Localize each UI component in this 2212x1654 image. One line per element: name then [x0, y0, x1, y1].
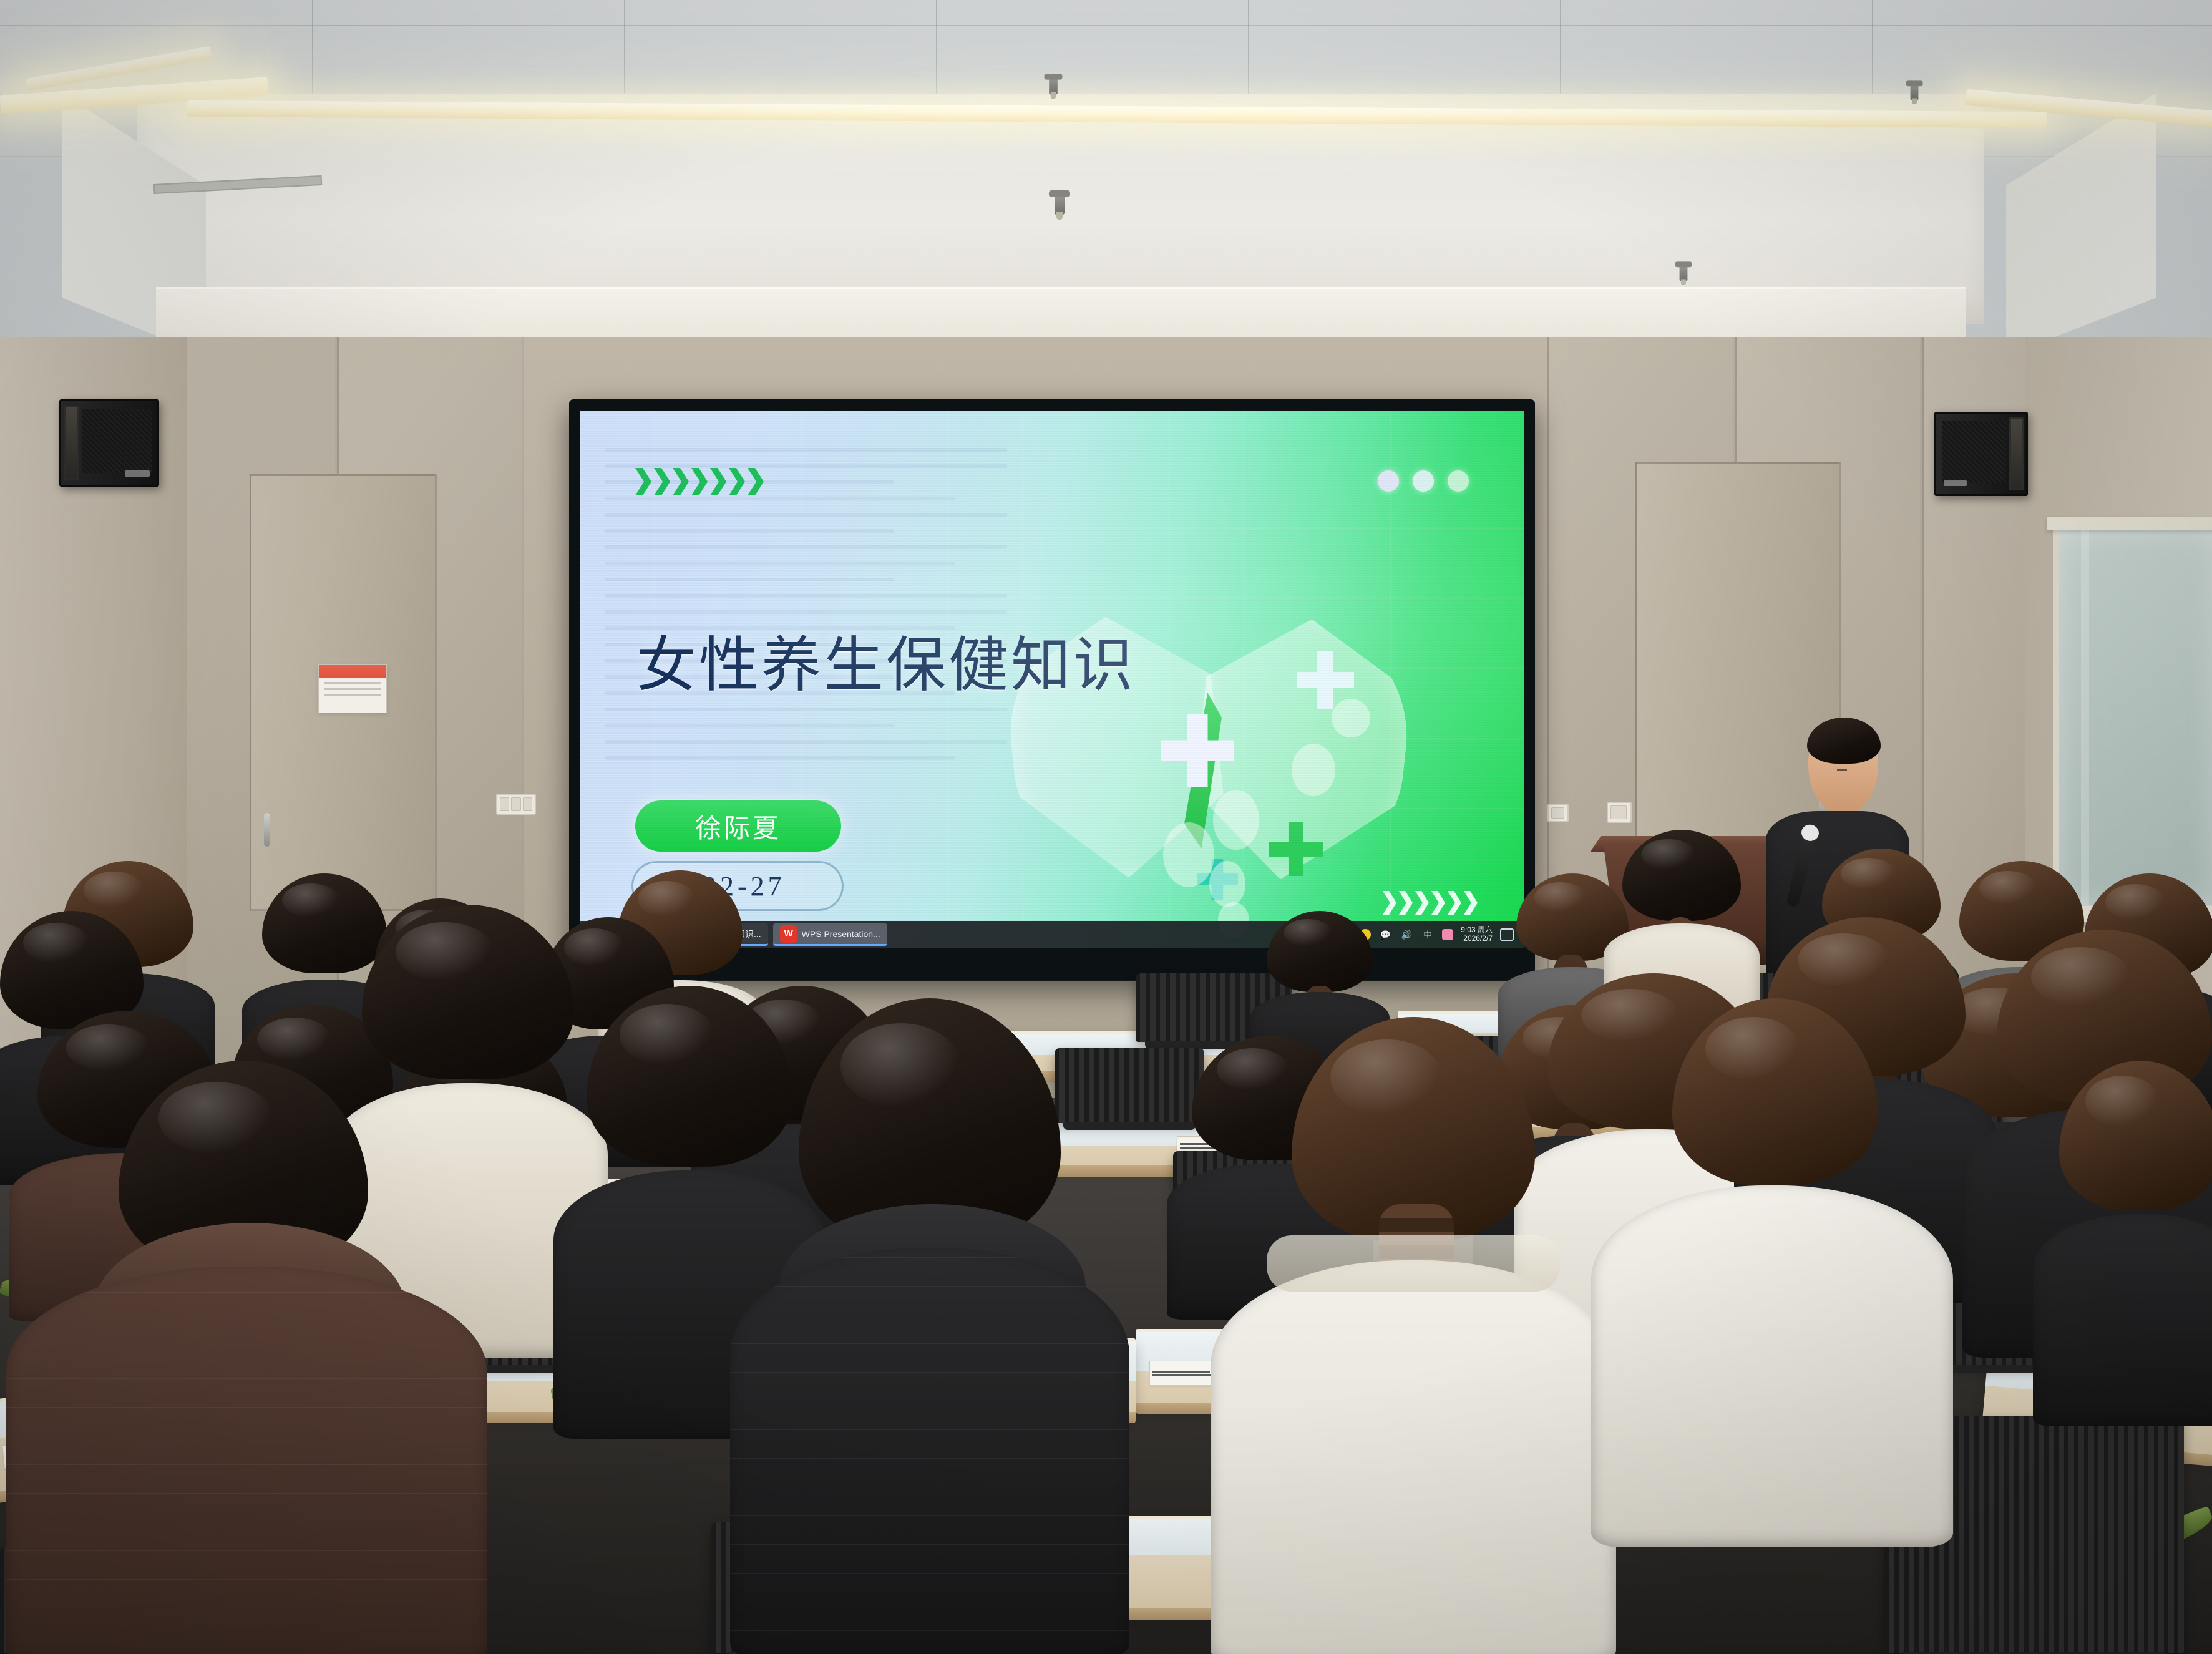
speaker-bracket	[2009, 417, 2024, 490]
bubble-decoration	[1332, 699, 1370, 737]
chevron-icon	[710, 468, 726, 495]
quilting-texture	[730, 1248, 1129, 1654]
dot-decoration-top-right	[1378, 470, 1469, 492]
bubble-decoration	[1209, 861, 1245, 907]
chevron-icon	[635, 468, 651, 495]
torso	[1211, 1260, 1616, 1654]
chevron-icon	[1464, 891, 1478, 915]
speaker-badge	[125, 470, 150, 476]
presenter-name-badge: 徐际夏	[635, 800, 841, 852]
taskbar-task-wps-presentation[interactable]: W WPS Presentation...	[773, 923, 887, 946]
light-switch-plate[interactable]	[496, 794, 536, 815]
torso	[1591, 1185, 1953, 1547]
torso	[730, 1248, 1129, 1654]
chevron-icon	[691, 468, 708, 495]
ime-indicator[interactable]: 中	[1421, 928, 1435, 941]
fire-sprinkler-icon	[1055, 193, 1065, 215]
speaker-bracket	[64, 406, 80, 481]
clock-time: 9:03 周六	[1461, 926, 1493, 935]
notification-center-icon[interactable]	[1500, 928, 1514, 941]
torso	[2033, 1214, 2212, 1426]
chevron-icon	[1431, 891, 1445, 915]
wall-speaker-right	[1934, 412, 2028, 496]
audience-member-brown-coat	[25, 1061, 462, 1653]
chevron-decoration-bottom-right	[1383, 891, 1478, 915]
hair	[1267, 911, 1373, 992]
dot-icon	[1448, 470, 1469, 492]
collar	[1267, 1235, 1560, 1292]
bubble-decoration	[1213, 790, 1259, 850]
torso	[6, 1267, 487, 1654]
taskbar-clock[interactable]: 9:03 周六 2026/2/7	[1461, 926, 1493, 943]
glass-frame-top	[2047, 517, 2212, 530]
presenter-hair	[1807, 718, 1881, 764]
speaker-badge	[1944, 480, 1967, 486]
notice-body-lines	[324, 682, 381, 701]
wall-speaker-left	[59, 399, 159, 487]
hair	[1622, 830, 1741, 921]
chevron-icon	[729, 468, 745, 495]
light-switch-plate[interactable]	[1607, 802, 1632, 823]
notice-header	[319, 665, 386, 678]
chat-icon[interactable]: 💬	[1378, 928, 1392, 941]
chevron-icon	[673, 468, 689, 495]
dot-icon	[1413, 470, 1434, 492]
wps-icon: W	[780, 925, 797, 943]
clock-date: 2026/2/7	[1461, 935, 1493, 943]
chevron-icon	[1448, 891, 1461, 915]
bubble-decoration	[1163, 822, 1214, 887]
audience-member-white-coat	[1223, 1017, 1604, 1654]
door-handle[interactable]	[264, 813, 270, 847]
hair	[362, 905, 574, 1079]
audience-member-right-foreground	[1597, 998, 1947, 1547]
meeting-room-photo: 女性养生保健知识 徐际夏 -02-27	[0, 0, 2212, 1654]
audience-member	[2059, 1061, 2212, 1410]
fire-sprinkler-icon	[1911, 83, 1919, 100]
hair	[1672, 998, 1878, 1185]
quilting-texture	[6, 1267, 487, 1654]
volume-icon[interactable]: 🔊	[1400, 928, 1413, 941]
chevron-icon	[1399, 891, 1413, 915]
chevron-icon	[654, 468, 670, 495]
wps-cloud-icon[interactable]	[1442, 929, 1453, 940]
presentation-slide: 女性养生保健知识 徐际夏 -02-27	[580, 411, 1524, 948]
fire-sprinkler-icon	[1680, 264, 1688, 281]
audience-member-center	[743, 998, 1117, 1653]
glasses-icon	[1813, 764, 1871, 780]
ceiling	[0, 0, 2212, 349]
chevron-icon	[748, 468, 764, 495]
quilting-texture	[1591, 1185, 1953, 1547]
chevron-icon	[1415, 891, 1429, 915]
dot-icon	[1378, 470, 1399, 492]
slide-title: 女性养生保健知识	[636, 616, 1136, 703]
glass-partition	[2053, 524, 2212, 911]
bubble-decoration	[1292, 744, 1335, 796]
hair	[2059, 1061, 2212, 1210]
quilting-texture	[1211, 1260, 1616, 1654]
chevron-icon	[1383, 891, 1396, 915]
chevron-decoration-top-left	[635, 468, 764, 495]
fire-sprinkler-icon	[1049, 77, 1058, 95]
speaker-grille	[1942, 421, 2007, 483]
wall-notice-poster	[318, 664, 387, 713]
screen-content-area[interactable]: 女性养生保健知识 徐际夏 -02-27	[580, 411, 1524, 948]
light-switch-plate[interactable]	[1547, 804, 1569, 822]
speaker-grille	[82, 409, 152, 473]
taskbar-task-label: WPS Presentation...	[802, 929, 880, 939]
